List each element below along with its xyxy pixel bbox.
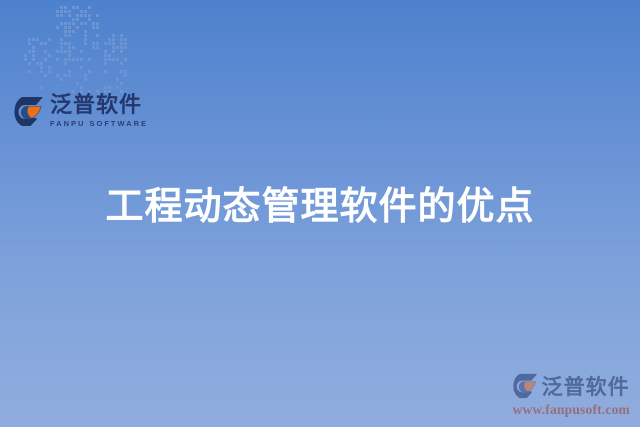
watermark-logo: 泛普软件 (513, 371, 630, 401)
brand-logo: 泛普软件 FANPU SOFTWARE (14, 95, 148, 128)
page-title: 工程动态管理软件的优点 (0, 182, 640, 230)
fanpu-hexagon-swoosh-icon (14, 96, 44, 127)
fanpu-hexagon-swoosh-icon (513, 373, 538, 399)
brand-name-en: FANPU SOFTWARE (50, 120, 148, 128)
brand-name-cn: 泛普软件 (50, 95, 148, 117)
watermark-url: www.fanpusoft.com (513, 402, 630, 418)
promo-banner: 泛普软件 FANPU SOFTWARE 工程动态管理软件的优点 泛普软件 www… (0, 0, 640, 427)
brand-wordmark: 泛普软件 FANPU SOFTWARE (50, 95, 148, 128)
watermark-name-cn: 泛普软件 (542, 371, 630, 401)
pixel-skyline-icon (24, 6, 128, 94)
watermark: 泛普软件 www.fanpusoft.com (513, 371, 630, 418)
